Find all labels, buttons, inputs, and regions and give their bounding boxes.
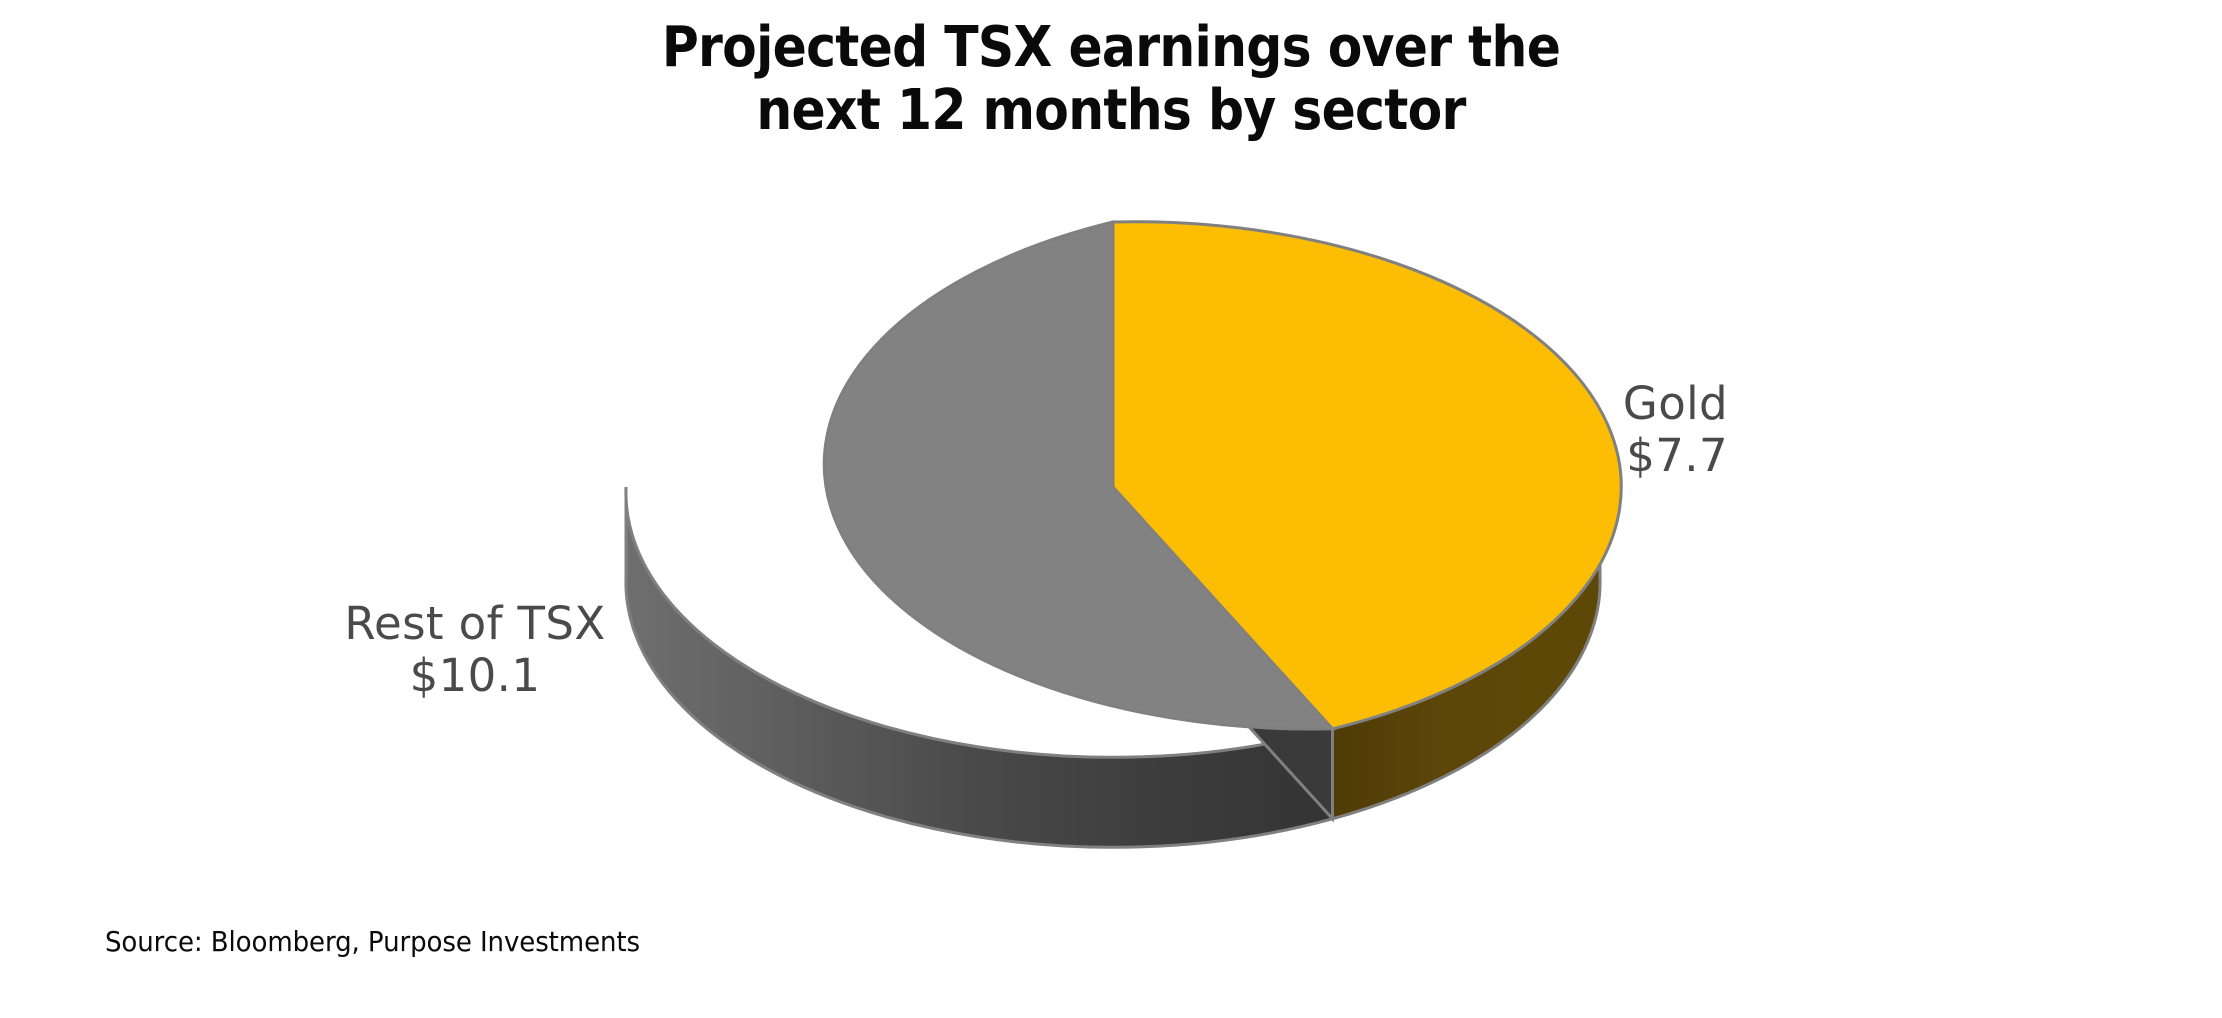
pie-chart-figure: Projected TSX earnings over the next 12 …: [0, 0, 2222, 1018]
slice-label-gold-value: $7.7: [1618, 430, 1728, 482]
slice-label-gold-name: Gold: [1618, 378, 1728, 430]
slice-label-rest-of-tsx-value: $10.1: [330, 650, 620, 702]
source-note: Source: Bloomberg, Purpose Investments: [105, 925, 640, 958]
pie-chart-graphic: [0, 0, 2222, 1018]
slice-label-gold: Gold $7.7: [1618, 378, 1728, 482]
slice-label-rest-of-tsx-name: Rest of TSX: [330, 598, 620, 650]
slice-label-rest-of-tsx: Rest of TSX $10.1: [330, 598, 620, 702]
